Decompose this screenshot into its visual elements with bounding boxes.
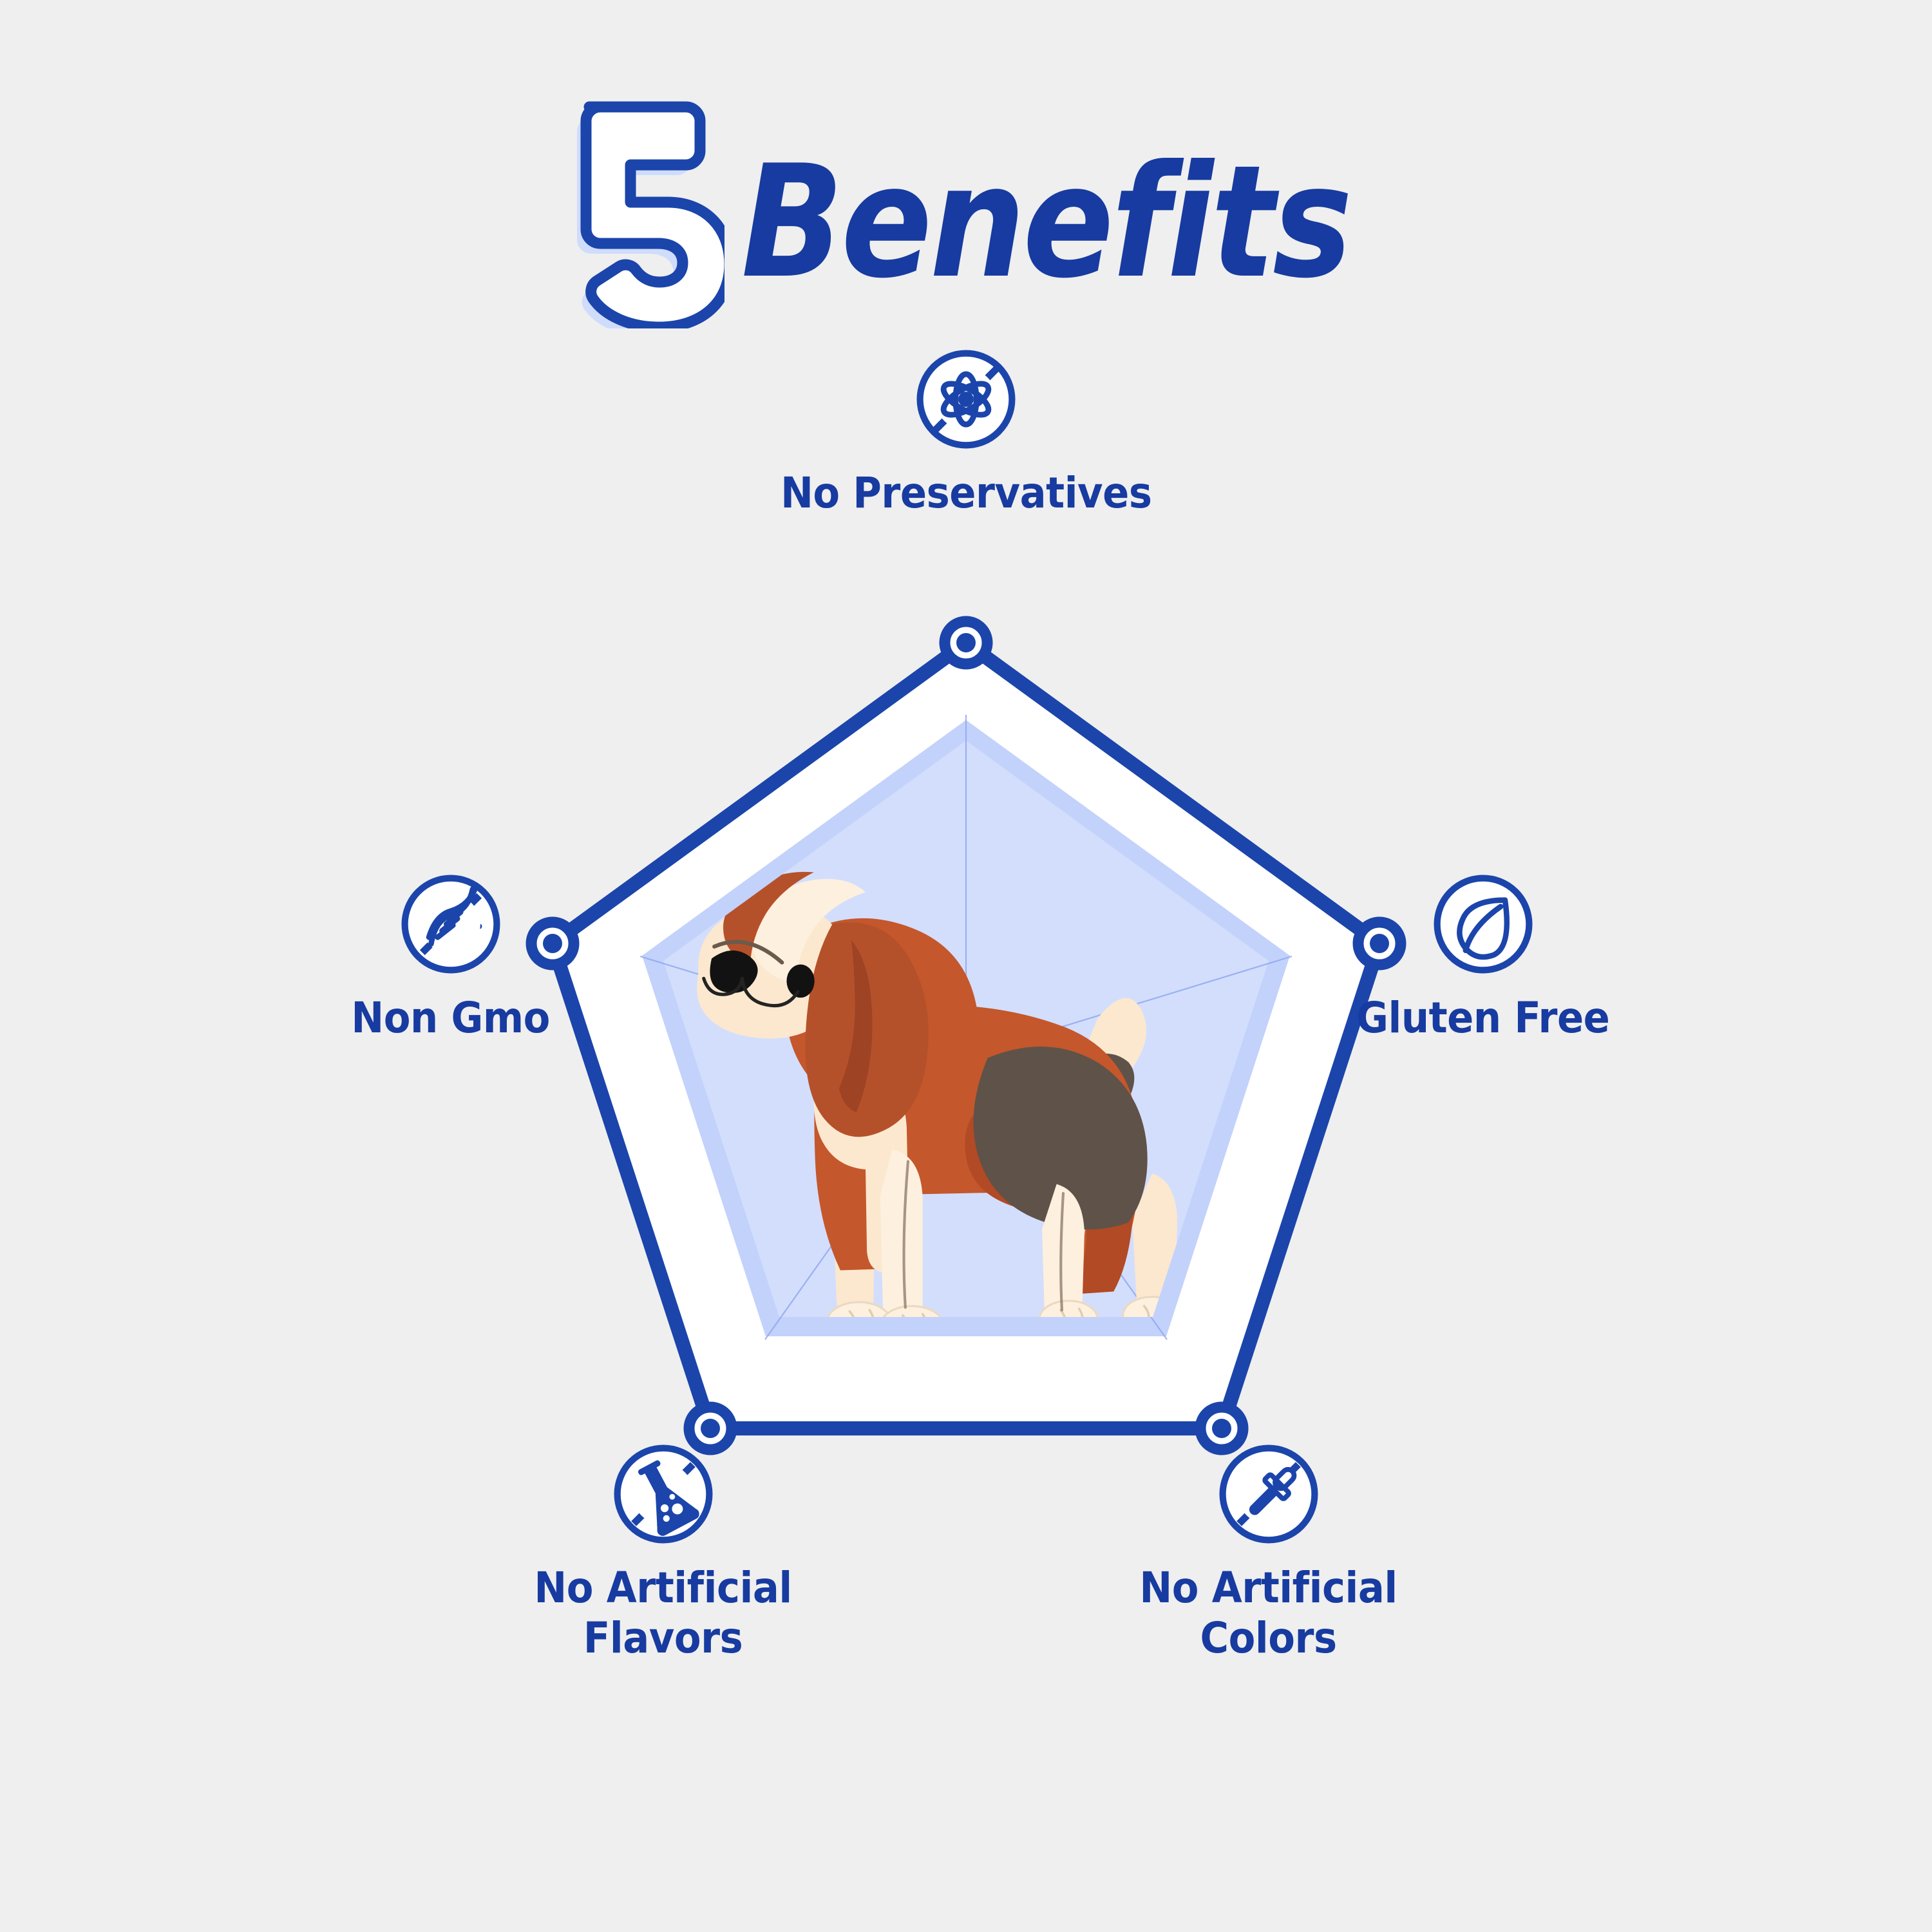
atom-no-icon[interactable]	[911, 345, 1021, 454]
benefit-label: No Artificial Colors	[1140, 1563, 1397, 1663]
benefit-no-artificial-colors[interactable]: No Artificial Colors	[1063, 1439, 1475, 1663]
benefit-gluten-free[interactable]: Gluten Free	[1277, 869, 1689, 1043]
benefit-label-line1: No Artificial	[535, 1563, 792, 1613]
page-title: Benefits	[0, 97, 1932, 328]
benefit-label: No Artificial Flavors	[535, 1563, 792, 1663]
benefit-label-line2: Flavors	[535, 1613, 792, 1663]
benefit-label-line2: Colors	[1140, 1613, 1397, 1663]
title-word: Benefits	[741, 144, 1350, 299]
vertex-marker-top[interactable]	[945, 621, 987, 664]
flask-no-icon[interactable]	[609, 1439, 718, 1549]
pentagon-radar-chart	[483, 605, 1449, 1520]
benefit-label: No Preservatives	[781, 468, 1152, 518]
dropper-no-icon[interactable]	[1214, 1439, 1323, 1549]
dog-eye	[786, 965, 814, 998]
benefit-non-gmo[interactable]: Non Gmo	[245, 869, 657, 1043]
leaf-icon[interactable]	[1428, 869, 1538, 979]
benefit-no-preservatives[interactable]: No Preservatives	[760, 345, 1172, 518]
benefit-no-artificial-flavors[interactable]: No Artificial Flavors	[457, 1439, 869, 1663]
infographic-canvas: Benefits	[0, 0, 1932, 1932]
dna-no-icon[interactable]	[396, 869, 506, 979]
benefit-label: Gluten Free	[1356, 993, 1609, 1043]
benefit-label-line1: No Artificial	[1140, 1563, 1397, 1613]
benefit-label: Non Gmo	[352, 993, 551, 1043]
title-number-5	[563, 97, 724, 328]
